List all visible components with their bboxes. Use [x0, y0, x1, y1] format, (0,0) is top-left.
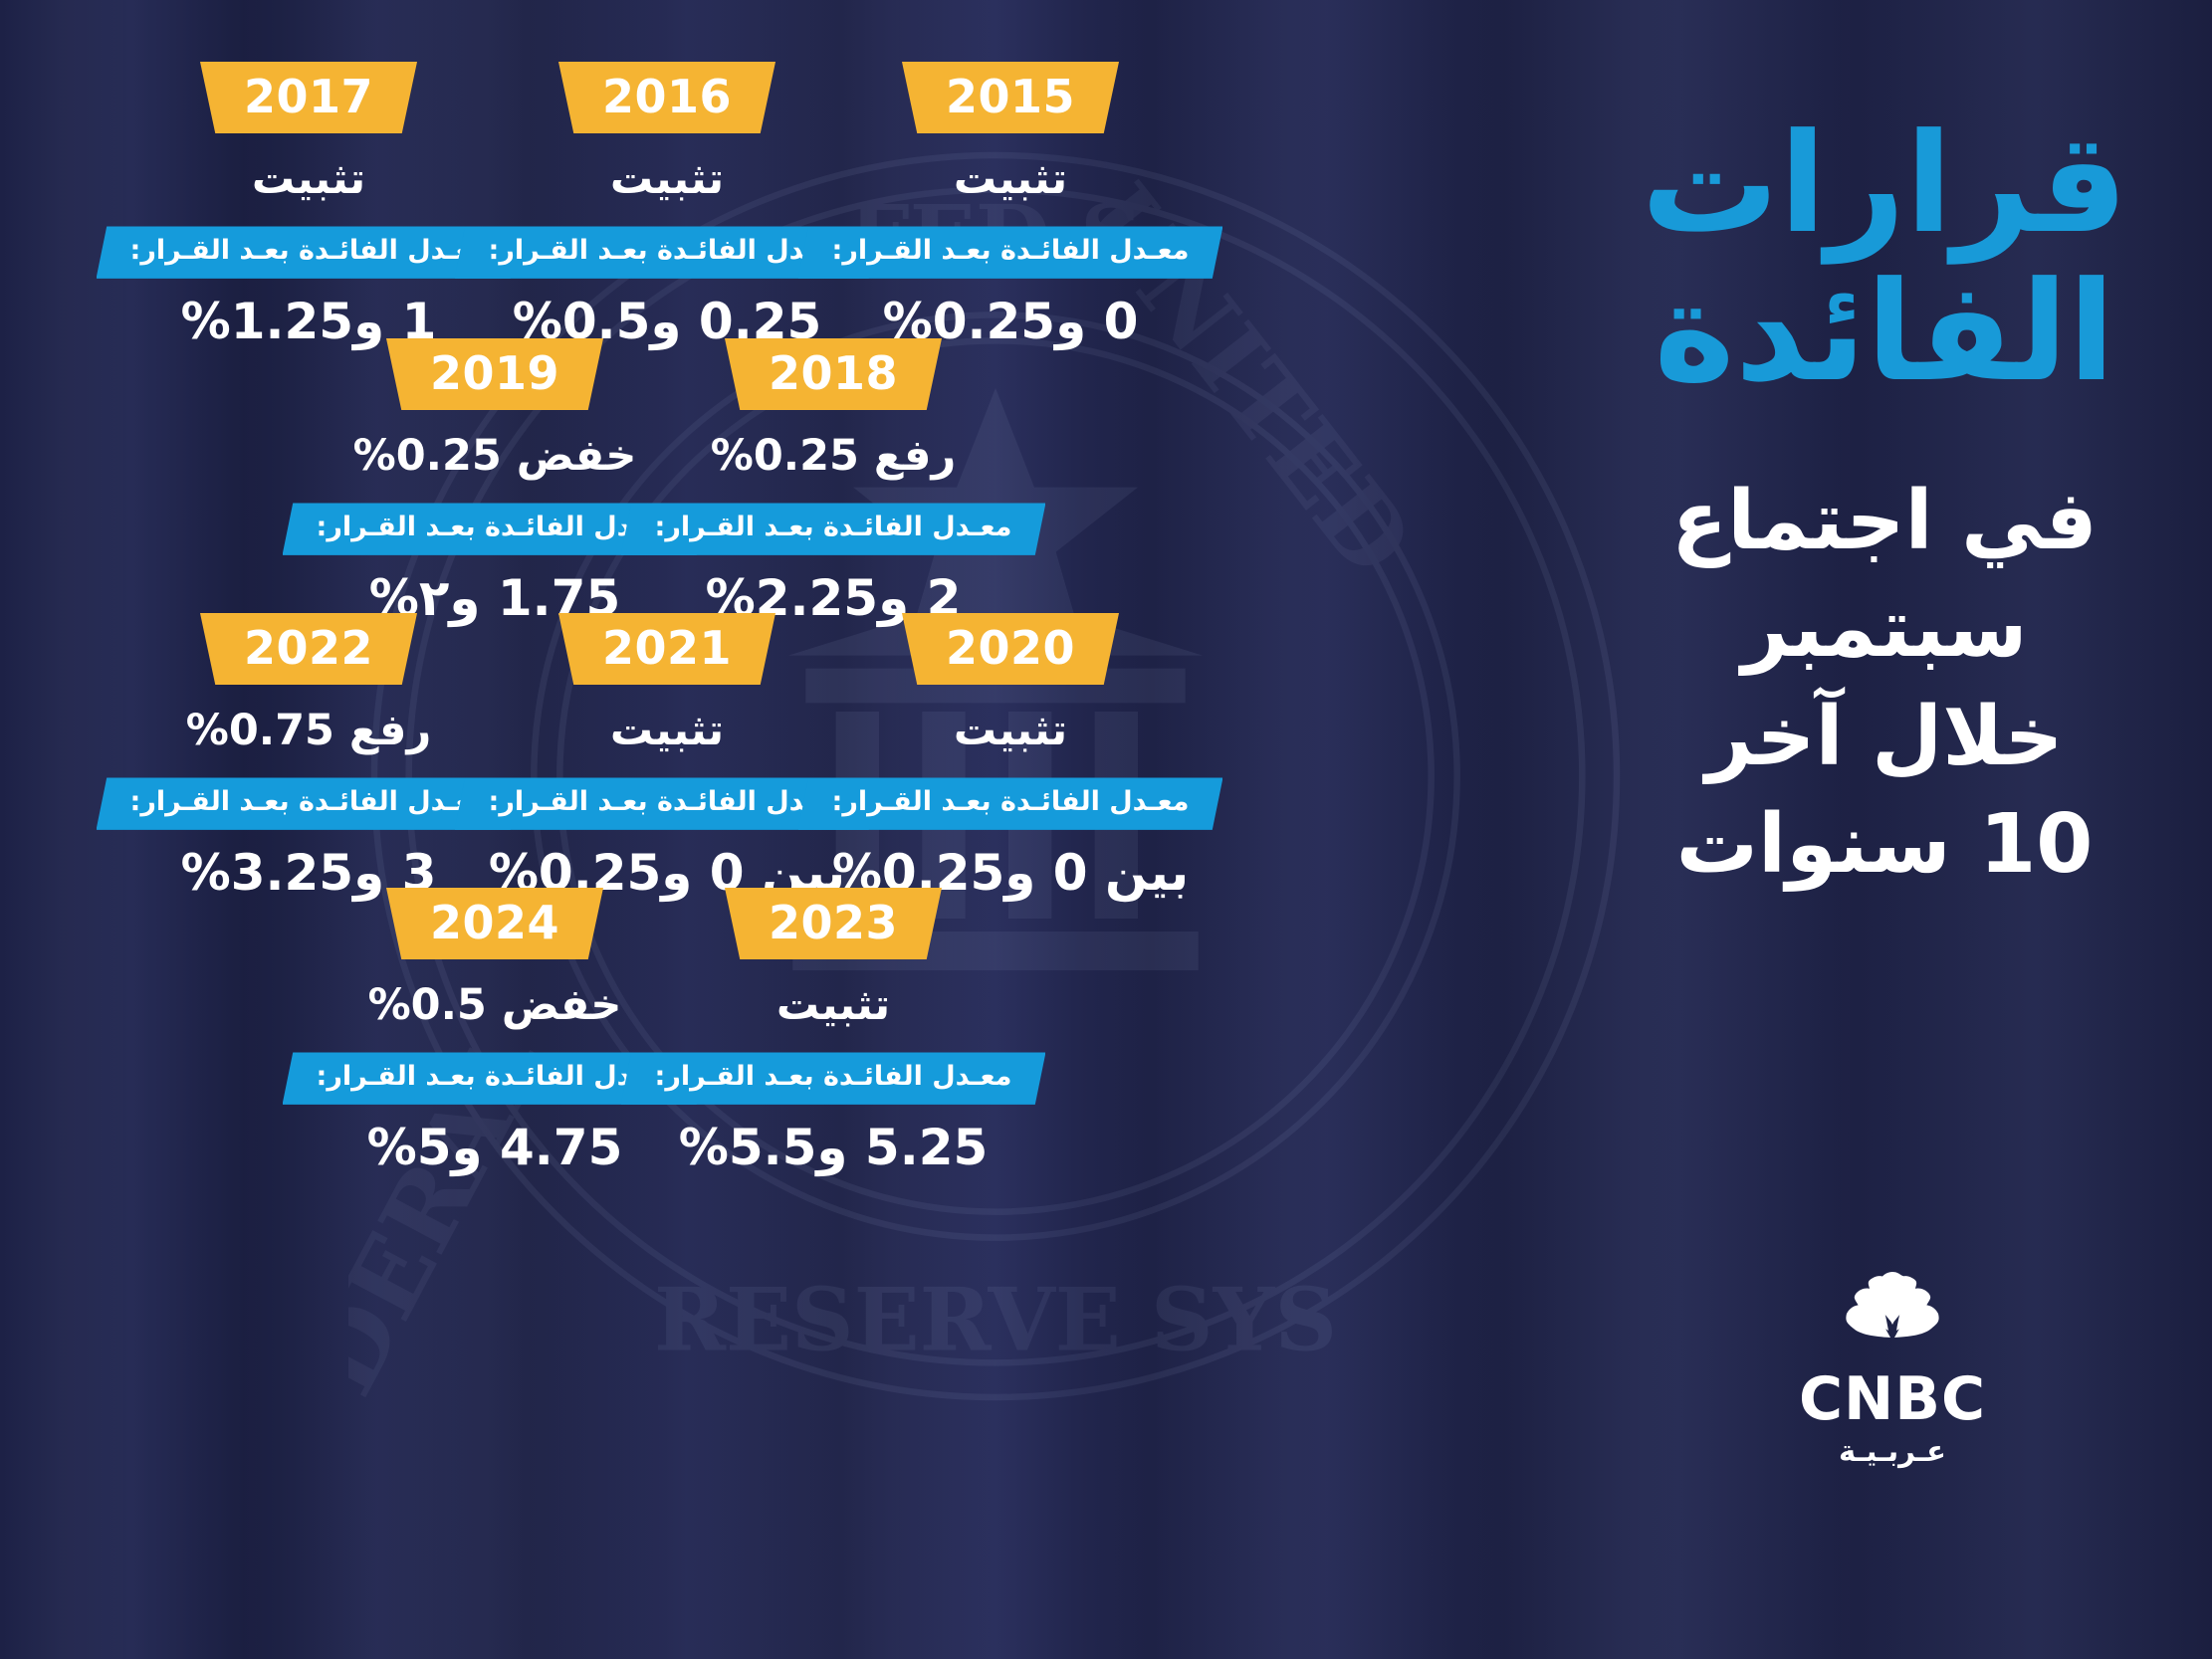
infographic-canvas: FED S RESERVE SYS DERAL UNITED 2017تثبيت… — [0, 0, 2212, 1659]
rate-label-band: معـدل الفائـدة بعـد القـرار: — [798, 226, 1223, 278]
cnbc-arabic-label: عـربـيـة — [1573, 1437, 2212, 1466]
subtitle-line-3: خلال آخر — [1613, 684, 2156, 791]
page-subtitle: في اجتماع سبتمبر خلال آخر 10 سنوات — [1613, 468, 2156, 899]
cnbc-arabia-logo: CNBC عـربـيـة — [1573, 1266, 2212, 1466]
subtitle-line-2: سبتمبر — [1613, 575, 2156, 683]
rate-label-band: معـدل الفائـدة بعـد القـرار: — [621, 1052, 1046, 1104]
year-badge: 2017 — [200, 62, 417, 133]
nbc-peacock-icon — [1833, 1266, 1952, 1361]
rate-label-band: معـدل الفائـدة بعـد القـرار: — [798, 777, 1223, 829]
subtitle-line-1: في اجتماع — [1613, 468, 2156, 575]
year-badge: 2023 — [725, 888, 942, 959]
year-badge: 2019 — [386, 338, 603, 410]
decision-text: تثبيت — [762, 707, 1259, 755]
title-line-2: الفائدة — [1613, 258, 2156, 406]
page-title: قرارات الفائدة — [1613, 109, 2156, 406]
decision-text: تثبيت — [762, 155, 1259, 204]
decision-card: 2020تثبيتمعـدل الفائـدة بعـد القـرار:بين… — [762, 613, 1259, 901]
decision-text: تثبيت — [584, 981, 1082, 1030]
decision-card: 2023تثبيتمعـدل الفائـدة بعـد القـرار:5.2… — [584, 888, 1082, 1175]
decision-cards-grid: 2017تثبيتمعـدل الفائـدة بعـد القـرار:1 و… — [0, 0, 1573, 1659]
year-badge: 2018 — [725, 338, 942, 410]
year-badge: 2020 — [902, 613, 1119, 685]
decision-card: 2018رفع 0.25%معـدل الفائـدة بعـد القـرار… — [584, 338, 1082, 626]
title-line-1: قرارات — [1613, 109, 2156, 258]
year-badge: 2024 — [386, 888, 603, 959]
rate-value: 5.25 و5.5% — [584, 1121, 1082, 1175]
year-badge: 2015 — [902, 62, 1119, 133]
year-badge: 2016 — [558, 62, 775, 133]
cnbc-wordmark: CNBC — [1573, 1369, 2212, 1429]
year-badge: 2022 — [200, 613, 417, 685]
subtitle-line-4: 10 سنوات — [1613, 791, 2156, 899]
rate-label-band: معـدل الفائـدة بعـد القـرار: — [621, 503, 1046, 554]
headline-panel: قرارات الفائدة في اجتماع سبتمبر خلال آخر… — [1573, 0, 2212, 1659]
year-badge: 2021 — [558, 613, 775, 685]
decision-card: 2015تثبيتمعـدل الفائـدة بعـد القـرار:0 و… — [762, 62, 1259, 349]
decision-text: رفع 0.25% — [584, 432, 1082, 481]
